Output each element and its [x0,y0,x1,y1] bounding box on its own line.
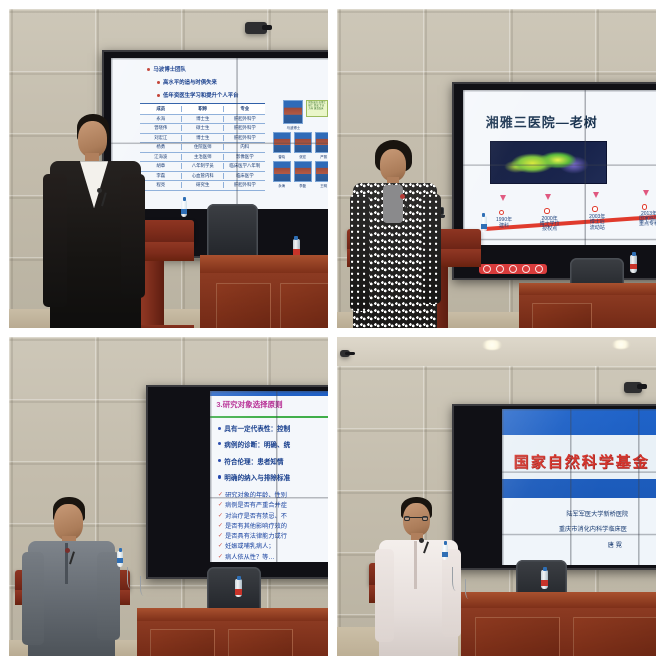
table-header-cell: 职称 [182,106,224,112]
bottle-cap [294,236,298,240]
speaker-person [350,140,443,328]
table-row: 胡章 八年制学员 临床医学八年制 [140,162,265,171]
conference-desk [137,608,328,656]
microphone [398,194,412,212]
check-item: ✓ 对治疗是否有禁忌、不 [218,511,287,520]
bullet-marker [218,459,221,462]
bullet-marker [218,475,221,478]
desk-lip [200,255,328,273]
timeline-node [593,207,597,211]
arm-left [22,552,45,645]
zoom-icon[interactable] [522,265,530,273]
bottle-label [181,209,187,214]
desk-panel [475,617,560,656]
check-icon: ✓ [218,532,223,539]
microphone [95,188,109,206]
projector-icon [245,22,267,34]
timeline-node [643,205,647,209]
projector-icon [624,382,642,393]
bullet-text: 符合伦理：患者知情 [224,456,283,466]
bottle-cap [632,252,636,256]
mic-head-icon [97,188,102,193]
desk-panel [216,283,271,328]
table-cell: 心血管内科 [182,173,224,179]
glasses-icon [404,517,428,518]
microphone [417,538,430,553]
team-member-photo: 张宏 [294,132,312,159]
photo-row: 永海 李磊 王明 [273,161,328,188]
timeline-text: 建科 [499,223,509,229]
timeline-label: 2000年博士学位 授权点 [529,217,570,233]
table-cell: 硕士生 [182,125,224,131]
bottle-label [442,552,448,557]
table-cell: 肝胆外科学 [224,116,265,122]
table-cell: 研究生 [182,182,224,188]
bullet-text: 高水平的追与时俱失来 [163,78,217,86]
conference-desk [461,592,656,656]
timeline-text: 博士后 流动站 [590,219,605,230]
member-name: 曾晓 [278,154,285,159]
bottle-cap [237,576,241,580]
slide-institution-history: 湘雅三医院—老树 湘 1990年建科 2000年博士学位 授权点 200 [463,90,656,244]
camera-icon [340,350,350,357]
portrait-photo [283,100,303,124]
team-member-photo: 永海 [273,161,291,188]
table-cell: 肝胆外科学 [224,125,265,131]
note-box: 团队成员 由博士硕士 组成 专业方向 涵盖临床 [306,100,328,117]
lens-left [404,516,410,521]
table-header-row: 成员 职称 专业 [140,104,265,115]
desk-panel [228,629,293,656]
desk-panel [573,617,656,656]
panel-bottom-left: 3.研究对象选择原则 具有一定代表性：控制 病例的诊断：明确、统 符合伦理：患者… [9,337,328,656]
fluorescence-image [490,141,607,184]
team-member-photo: 曾晓 [273,132,291,159]
slide-heading: 3.研究对象选择原则 [216,399,282,410]
arm-right [422,194,441,303]
portrait-photo [294,132,312,153]
mic-stem [404,198,409,212]
chair-back [207,204,258,261]
check-text: 病人依从性？等… [225,552,275,561]
conference-desk [519,283,656,328]
desk-lip [137,608,328,621]
timeline-arrow-icon [545,194,551,200]
water-bottle [481,216,487,232]
slide-bullet: 符合伦理：患者知情 [218,456,284,466]
stamp-icon[interactable] [509,265,517,273]
member-name: 严丽 [320,154,327,159]
portrait-photo [273,132,291,153]
table-cell: 内科 [224,144,265,150]
affiliation-line: 陆军军医大学新桥医院 [566,509,628,518]
table-cell: 主治医师 [182,154,224,160]
timeline-arrow-icon [500,195,506,201]
desk-panel [280,283,328,328]
bottle-label [630,264,637,270]
presenter-name: 唐 霓 [608,540,622,549]
bullet-text: 病例的诊断：明确、统 [224,439,290,449]
table-cell: 肝胆外科学 [224,182,265,188]
desk-lip [519,283,656,294]
presentation-screen: 3.研究对象选择原则 具有一定代表性：控制 病例的诊断：明确、统 符合伦理：患者… [210,391,328,562]
led-video-wall: 3.研究对象选择原则 具有一定代表性：控制 病例的诊断：明确、统 符合伦理：患者… [146,385,328,580]
table-row: 曾晓伟 硕士生 肝胆外科学 [140,124,265,133]
slide-bullet: 马波博士团队 [147,65,185,73]
check-icon: ✓ [218,542,223,549]
arm-left [375,549,394,642]
team-roster-table: 成员 职称 专业 永海 博士生 肝胆外科学 曾晓伟 硕士生 肝胆外科学 [140,103,265,200]
mic-stem [69,551,74,564]
check-text: 妊娠或哺乳病人； [225,541,275,550]
arm-right [121,174,145,298]
speaker-person [375,497,461,657]
table-cell: 博士生 [182,116,224,122]
photo-collage: 马波博士团队 高水平的追与时俱失来 低年资医生学习和提升个人平台 成员 [0,0,665,665]
table-cell: 临床医学 [224,173,265,179]
bullet-text: 低年资医生学习和提升个人平台 [163,91,238,99]
portrait-photo [315,161,328,182]
portrait-photo [294,161,312,182]
bullet-marker [218,427,221,430]
slide-bullet: 具有一定代表性：控制 [218,423,290,433]
water-bottle [181,200,187,217]
table-header-cell: 专业 [224,106,265,112]
speaker-person [22,497,121,657]
table-row: 刘宏江 博士生 肝胆外科学 [140,134,265,143]
slide-bullet: 病例的诊断：明确、统 [218,439,290,449]
head [380,149,406,181]
timeline-node [545,209,549,213]
water-bottle [541,570,548,589]
bullet-marker [157,81,160,84]
speaker-chair [207,204,258,261]
led-video-wall: 国家自然科学基金 陆军军医大学新桥医院 重庆市消化内科学临床医 唐 霓 [452,404,656,570]
bottle-label [541,580,548,586]
pen-icon[interactable] [496,265,504,273]
check-text: 是否具有法律能力或行 [225,531,287,540]
slide-divider [210,416,328,418]
led-video-wall: 湘雅三医院—老树 湘 1990年建科 2000年博士学位 授权点 200 [452,82,656,280]
bullet-marker [147,68,150,71]
portrait-photo [315,132,328,153]
cable-gooseneck [452,567,462,591]
bullet-text: 具有一定代表性：控制 [224,423,290,433]
timeline-node [500,211,504,215]
conference-desk [200,255,328,328]
panel-top-left: 马波博士团队 高水平的追与时俱失来 低年资医生学习和提升个人平台 成员 [9,9,328,328]
slide-title-slide: 国家自然科学基金 陆军军医大学新桥医院 重庆市消化内科学临床医 唐 霓 [502,409,656,565]
bottle-cap [444,541,447,545]
check-item: ✓ 是否有其他影响疗效的 [218,521,287,530]
bottle-label [481,224,487,229]
team-member-photo: 马波博士 [283,100,303,130]
timeline-text: 博士学位 授权点 [540,221,560,232]
check-icon: ✓ [218,553,223,560]
team-member-photo: 严丽 [315,132,328,159]
bottle-cap [119,548,122,552]
timeline-arrow-icon [593,192,599,198]
photo-row: 曾晓 张宏 严丽 [273,132,328,159]
member-name: 马波博士 [287,125,301,130]
cable-gooseneck [465,579,474,599]
more-icon[interactable] [535,265,543,273]
water-bottle [630,255,637,273]
team-member-photo: 李磊 [294,161,312,188]
bottle-label [117,558,123,563]
table-row: 杨勇 住院医师 内科 [140,143,265,152]
check-text: 对治疗是否有禁忌、不 [225,511,287,520]
check-item: ✓ 是否具有法律能力或行 [218,531,287,540]
presenter-toolbar[interactable] [479,264,547,274]
check-icon: ✓ [218,491,223,498]
table-cell: 八年制学员 [182,163,224,169]
arm-right [97,552,120,640]
panel-bottom-right: 国家自然科学基金 陆军军医大学新桥医院 重庆市消化内科学临床医 唐 霓 [337,337,656,656]
slide-bullet: 明确的纳入与排除标准 [218,472,290,482]
slide-title: 湘雅三医院—老树 [486,112,598,131]
member-name: 张宏 [299,154,306,159]
table-row: 江海波 主治医师 影像医学 [140,153,265,162]
team-photo-grid: 马波博士 团队成员 由博士硕士 组成 专业方向 涵盖临床 曾晓 张宏 [273,100,328,188]
ceiling-light-icon [481,340,503,350]
speaker-person [41,114,149,328]
table-header-cell: 成员 [140,106,182,112]
slide-title: 国家自然科学基金 [514,451,650,472]
mic-head-icon [65,548,70,553]
check-icon: ✓ [218,501,223,508]
check-item: ✓ 病人依从性？等… [218,552,275,561]
check-text: 病例是否有严重合并症 [225,500,287,509]
mic-head-icon [419,538,424,543]
member-name: 永海 [278,183,285,188]
check-text: 是否有其他影响疗效的 [225,521,287,530]
check-text: 研究对象的年龄、性别 [225,490,287,499]
table-cell: 临床医学八年制 [224,163,265,169]
water-bottle [442,544,448,560]
desk-panel [532,303,592,328]
bullet-marker [157,94,160,97]
affiliation-line: 重庆市消化内科学临床医 [559,524,627,533]
table-cell: 住院医师 [182,144,224,150]
bullet-text: 明确的纳入与排除标准 [224,472,290,482]
presentation-screen: 湘雅三医院—老树 湘 1990年建科 2000年博士学位 授权点 200 [463,90,656,244]
head [78,121,107,157]
slide-top-band [210,391,328,396]
check-icon: ✓ [218,522,223,529]
timeline-text: 国家临床 重点专科 [639,216,656,227]
timeline-arrow-icon [643,190,649,196]
check-icon: ✓ [218,512,223,519]
water-bottle [235,579,242,597]
portrait-photo [273,161,291,182]
table-cell: 影像医学 [224,154,265,160]
mic-head-icon [400,194,405,199]
arm-right [442,549,461,637]
lens-right [422,516,428,521]
slide-bullet-list: 3.研究对象选择原则 具有一定代表性：控制 病例的诊断：明确、统 符合伦理：患者… [210,391,328,562]
check-item: ✓ 研究对象的年龄、性别 [218,490,287,499]
presentation-screen: 国家自然科学基金 陆军军医大学新桥医院 重庆市消化内科学临床医 唐 霓 [502,409,656,565]
timeline-label: 1990年建科 [483,218,524,229]
table-row: 永海 博士生 肝胆外科学 [140,115,265,124]
bottle-cap [183,197,186,201]
pointer-icon[interactable] [483,265,491,273]
check-item: ✓ 妊娠或哺乳病人； [218,541,275,550]
slide-bullet: 低年资医生学习和提升个人平台 [157,91,238,99]
timeline-label: 2003年博士后 流动站 [577,215,618,231]
check-item: ✓ 病例是否有严重合并症 [218,500,287,509]
table-cell: 博士生 [182,135,224,141]
team-member-photo: 王明 [315,161,328,188]
bullet-text: 马波博士团队 [153,65,185,73]
table-row: 李磊 心血管内科 临床医学 [140,172,265,181]
cable-gooseneck [127,567,137,589]
arm-left [350,194,369,311]
photo-row: 马波博士 团队成员 由博士硕士 组成 专业方向 涵盖临床 [273,100,328,130]
cable-gooseneck [140,576,149,596]
water-bottle [117,551,123,567]
microphone [63,548,77,564]
bullet-marker [218,442,221,445]
bottle-label [235,589,242,595]
mic-stem [101,192,106,206]
member-name: 王明 [320,183,327,188]
bottle-cap [543,567,547,571]
slide-bullet: 高水平的追与时俱失来 [157,78,217,86]
table-cell: 肝胆外科学 [224,135,265,141]
mic-stem [423,541,429,553]
desk-lip [461,592,656,608]
panel-top-right: 湘雅三医院—老树 湘 1990年建科 2000年博士学位 授权点 200 [337,9,656,328]
head [54,504,83,539]
timeline-label: 2013年国家临床 重点专科 [626,212,656,228]
history-timeline: 1990年建科 2000年博士学位 授权点 2003年博士后 流动站 2013年… [481,192,656,244]
member-name: 李磊 [299,183,306,188]
arm-left [43,174,67,307]
table-row: 程亮 研究生 肝胆外科学 [140,181,265,190]
desk-panel [150,629,215,656]
